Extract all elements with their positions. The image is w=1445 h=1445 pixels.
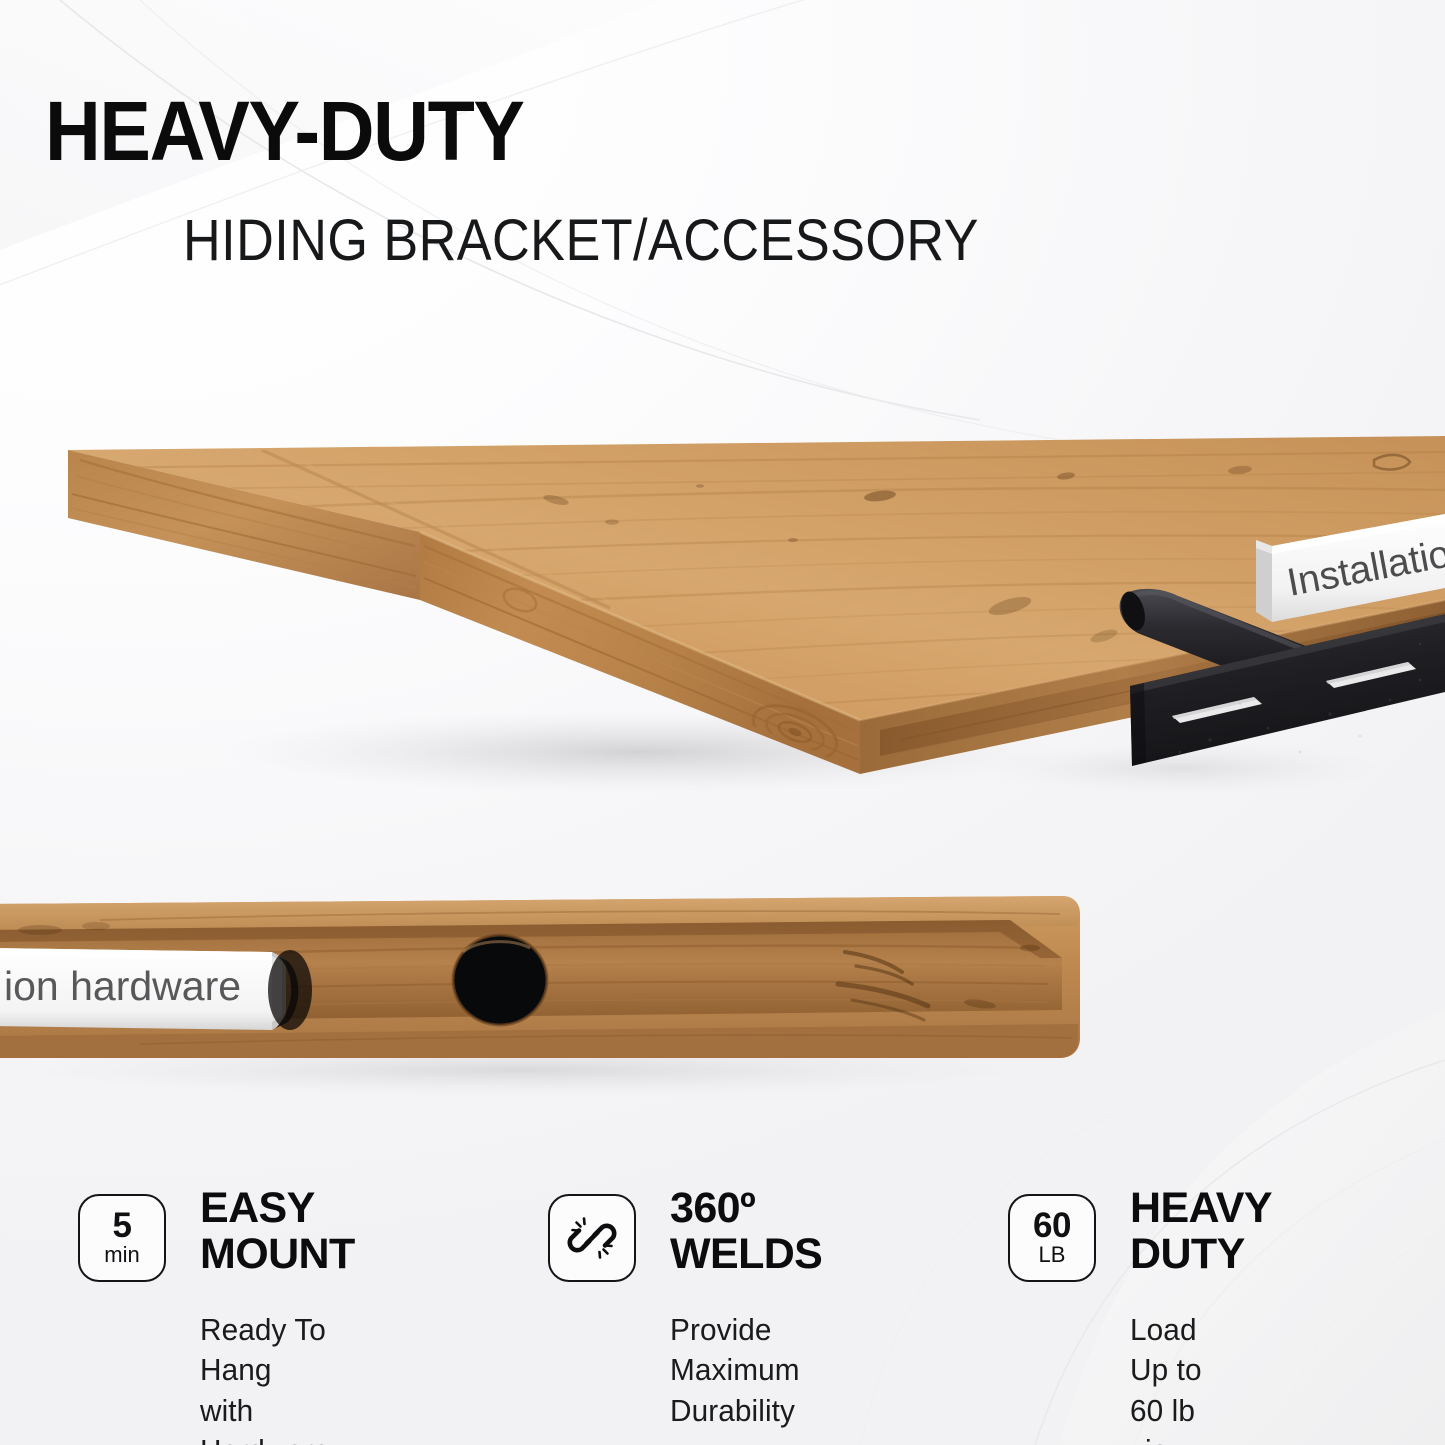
feature-row: 5 min EASY MOUNT Ready To Hang with Hard… — [0, 1186, 1445, 1416]
page-title: HEAVY-DUTY — [45, 92, 524, 171]
sixty-pound-badge: 60 LB — [1008, 1194, 1096, 1282]
badge-value: 60 — [1033, 1209, 1071, 1242]
feature-description: Load Up to 60 lb via Drywall — [1130, 1310, 1228, 1445]
detail-product-photo: ion hardware — [0, 860, 1445, 1160]
hardware-card-label-detail: ion hardware — [4, 963, 241, 1009]
page-subtitle: HIDING BRACKET/ACCESSORY — [183, 212, 979, 270]
product-infographic-canvas: HEAVY-DUTY HIDING BRACKET/ACCESSORY — [0, 0, 1445, 1445]
shelf-mounting-hole — [453, 935, 547, 1025]
badge-value: 5 — [113, 1209, 132, 1242]
badge-unit: LB — [1039, 1243, 1066, 1267]
feature-heading: 360º WELDS — [670, 1186, 822, 1277]
five-minute-badge: 5 min — [78, 1194, 166, 1282]
installation-hardware-card-detail: ion hardware — [0, 948, 286, 1030]
feature-heading: HEAVY DUTY — [1130, 1186, 1272, 1277]
chain-link-weld-icon — [564, 1210, 620, 1266]
main-product-photo: Installatio — [0, 300, 1445, 830]
feature-description: Ready To Hang with Hardware Included — [200, 1310, 330, 1445]
feature-description: Provide Maximum Durability — [670, 1310, 800, 1431]
feature-heading: EASY MOUNT — [200, 1186, 355, 1277]
badge-unit: min — [104, 1243, 139, 1267]
chain-link-weld-badge — [548, 1194, 636, 1282]
shelf-detail-body: ion hardware — [0, 896, 1080, 1058]
